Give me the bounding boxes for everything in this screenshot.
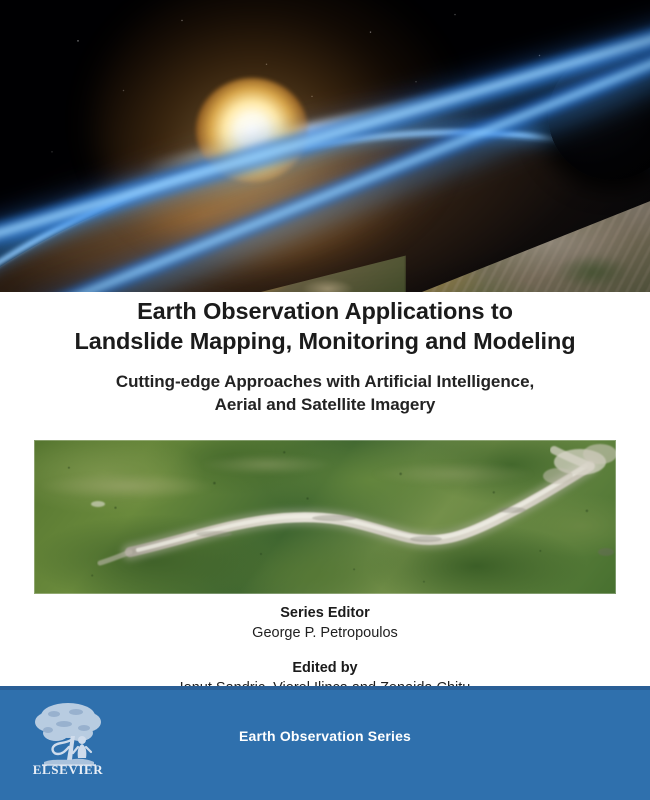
header-space-artwork [0, 0, 650, 292]
landslide-debris-flow [34, 440, 616, 594]
edited-by-label: Edited by [0, 659, 650, 678]
credits-block: Series Editor George P. Petropoulos Edit… [0, 604, 650, 698]
header-vignette [0, 0, 650, 292]
book-cover: Earth Observation Applications to Landsl… [0, 0, 650, 800]
subtitle-block: Cutting-edge Approaches with Artificial … [0, 370, 650, 416]
series-editor-label: Series Editor [0, 604, 650, 623]
credits-spacer [0, 643, 650, 659]
series-name-label: Earth Observation Series [0, 728, 650, 744]
book-subtitle-line-1: Cutting-edge Approaches with Artificial … [0, 370, 650, 393]
book-title-line-2: Landslide Mapping, Monitoring and Modeli… [0, 326, 650, 356]
book-title-line-1: Earth Observation Applications to [0, 296, 650, 326]
book-subtitle-line-2: Aerial and Satellite Imagery [0, 393, 650, 416]
elsevier-wordmark: ELSEVIER [30, 762, 106, 778]
title-block: Earth Observation Applications to Landsl… [0, 296, 650, 416]
series-editor-name: George P. Petropoulos [0, 623, 650, 643]
landslide-aerial-photo [34, 440, 616, 594]
